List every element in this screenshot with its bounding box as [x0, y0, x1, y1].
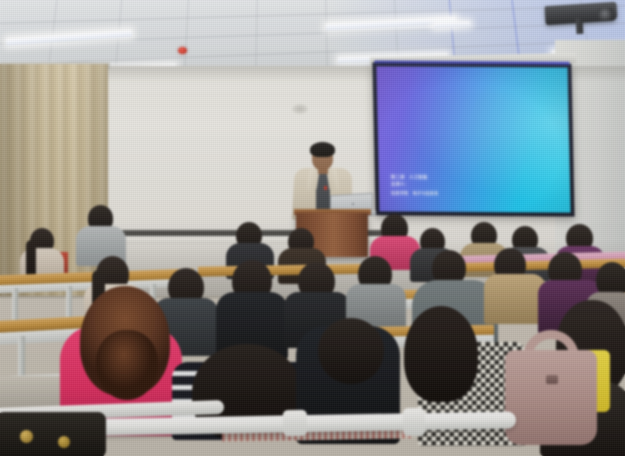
lecture-hall-photo: 第二讲 人工智能 主讲人： 信息学院 电子与信息系: [0, 0, 625, 456]
handbag-black: [0, 412, 106, 456]
seat-rail-bracket: [403, 408, 425, 436]
list-item: [318, 318, 384, 384]
smoke-detector-icon: [178, 47, 187, 54]
screen-top-highlight: [374, 60, 569, 64]
person-houndstooth-hair: [404, 306, 478, 402]
handbag-hardware-icon: [58, 436, 70, 448]
slide-line-1: 第二讲 人工智能: [391, 175, 496, 181]
slide-text-block: 第二讲 人工智能 主讲人： 信息学院 电子与信息系: [391, 175, 496, 196]
laptop-logo-icon: [352, 203, 354, 205]
projector-lens-icon: [598, 8, 614, 21]
handbag-hardware-icon: [20, 430, 33, 443]
person-pink-top-hair-strand: [96, 330, 158, 400]
seat-rail-bracket: [283, 410, 307, 436]
wall-smudge: [292, 104, 308, 114]
presenter-hair: [310, 142, 335, 157]
projection-screen-surface: 第二讲 人工智能 主讲人： 信息学院 电子与信息系: [376, 66, 570, 212]
handbag-clasp-icon: [546, 375, 558, 384]
slide-line-2: 主讲人：: [391, 183, 496, 189]
projector-mount-arm: [576, 18, 584, 34]
handbag-pink: [505, 350, 597, 445]
slide-line-3: 信息学院 电子与信息系: [391, 190, 496, 196]
person-tan-jacket-right: [484, 274, 546, 324]
lapel-microphone-icon: [324, 186, 327, 190]
projection-screen[interactable]: 第二讲 人工智能 主讲人： 信息学院 电子与信息系: [372, 62, 574, 216]
